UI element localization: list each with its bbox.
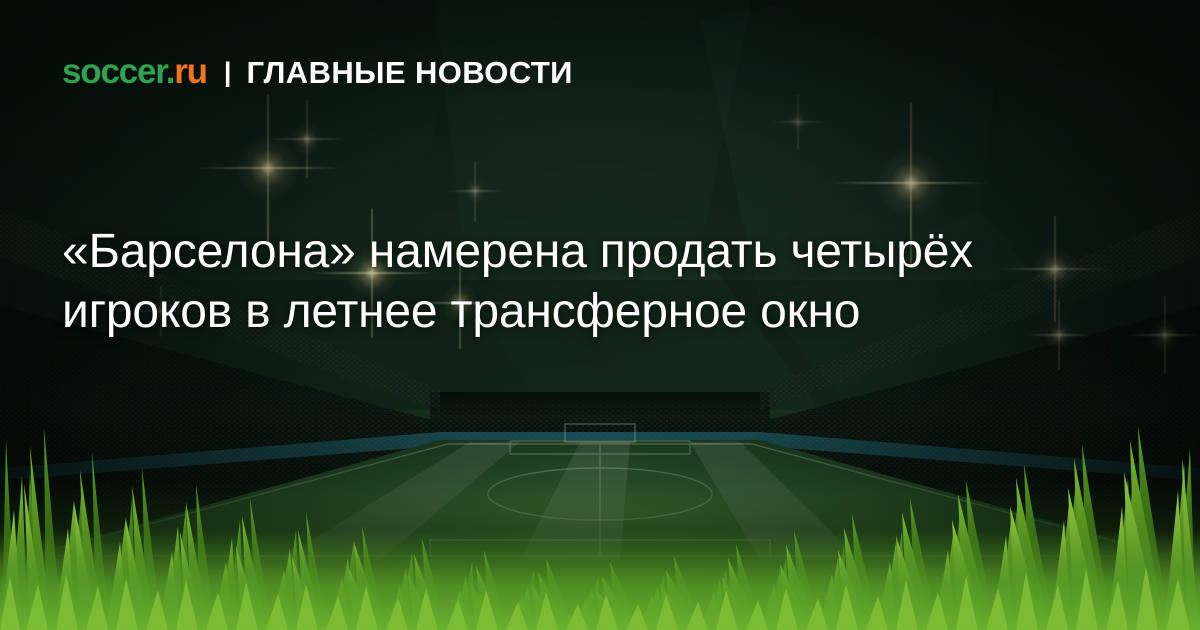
logo-brand-text: soccer <box>62 52 166 91</box>
article-headline: «Барселона» намерена продать четырёх игр… <box>62 222 1062 342</box>
grass-blades <box>0 380 1200 630</box>
soccer-ru-logo[interactable]: soccer.ru <box>62 52 207 92</box>
header-separator: | <box>224 57 232 88</box>
section-title: ГЛАВНЫЕ НОВОСТИ <box>246 55 572 91</box>
logo-tld-text: ru <box>174 52 207 91</box>
site-header: soccer.ru | ГЛАВНЫЕ НОВОСТИ <box>62 52 573 92</box>
logo-dot: . <box>166 52 175 91</box>
share-card: soccer.ru | ГЛАВНЫЕ НОВОСТИ «Барселона» … <box>0 0 1200 630</box>
grass-foreground <box>0 380 1200 630</box>
